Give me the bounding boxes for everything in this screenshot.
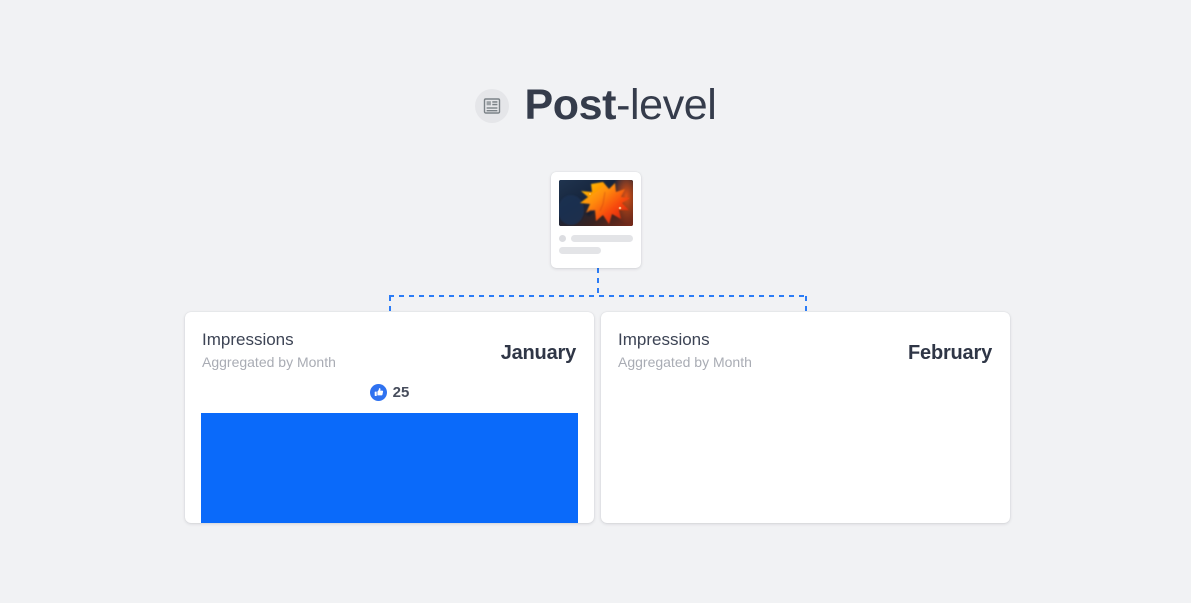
metric-card-header-left: Impressions Aggregated by Month [202,329,336,372]
metric-subtitle: Aggregated by Month [618,354,752,372]
metric-value: 25 [393,385,410,400]
page-title-row: Post-level [0,84,1191,127]
page-title: Post-level [525,84,717,127]
post-skeleton [559,235,633,254]
metric-period-label: January [501,342,576,365]
metric-card-body [601,372,1010,523]
metric-value-row: 25 [185,384,594,401]
post-skeleton-line-short [559,247,601,254]
post-skeleton-row [559,235,633,242]
page-title-strong: Post [525,81,617,129]
metric-period-label: February [908,342,992,365]
metric-card-body: 25 [185,372,594,523]
post-skeleton-line-long [571,235,633,242]
metric-card-header: Impressions Aggregated by Month January [185,312,594,372]
metric-title: Impressions [618,329,752,350]
post-layout-icon [475,89,509,123]
thumbs-up-icon [370,384,387,401]
post-preview-card[interactable] [551,172,641,268]
page-title-light: -level [616,81,716,129]
metric-card-header: Impressions Aggregated by Month February [601,312,1010,372]
post-thumbnail [559,180,633,226]
metric-card-january[interactable]: Impressions Aggregated by Month January … [185,312,594,523]
metric-title: Impressions [202,329,336,350]
metric-card-header-left: Impressions Aggregated by Month [618,329,752,372]
impressions-bar-january [201,413,578,523]
metric-subtitle: Aggregated by Month [202,354,336,372]
metric-card-february[interactable]: Impressions Aggregated by Month February [601,312,1010,523]
post-skeleton-avatar [559,235,566,242]
